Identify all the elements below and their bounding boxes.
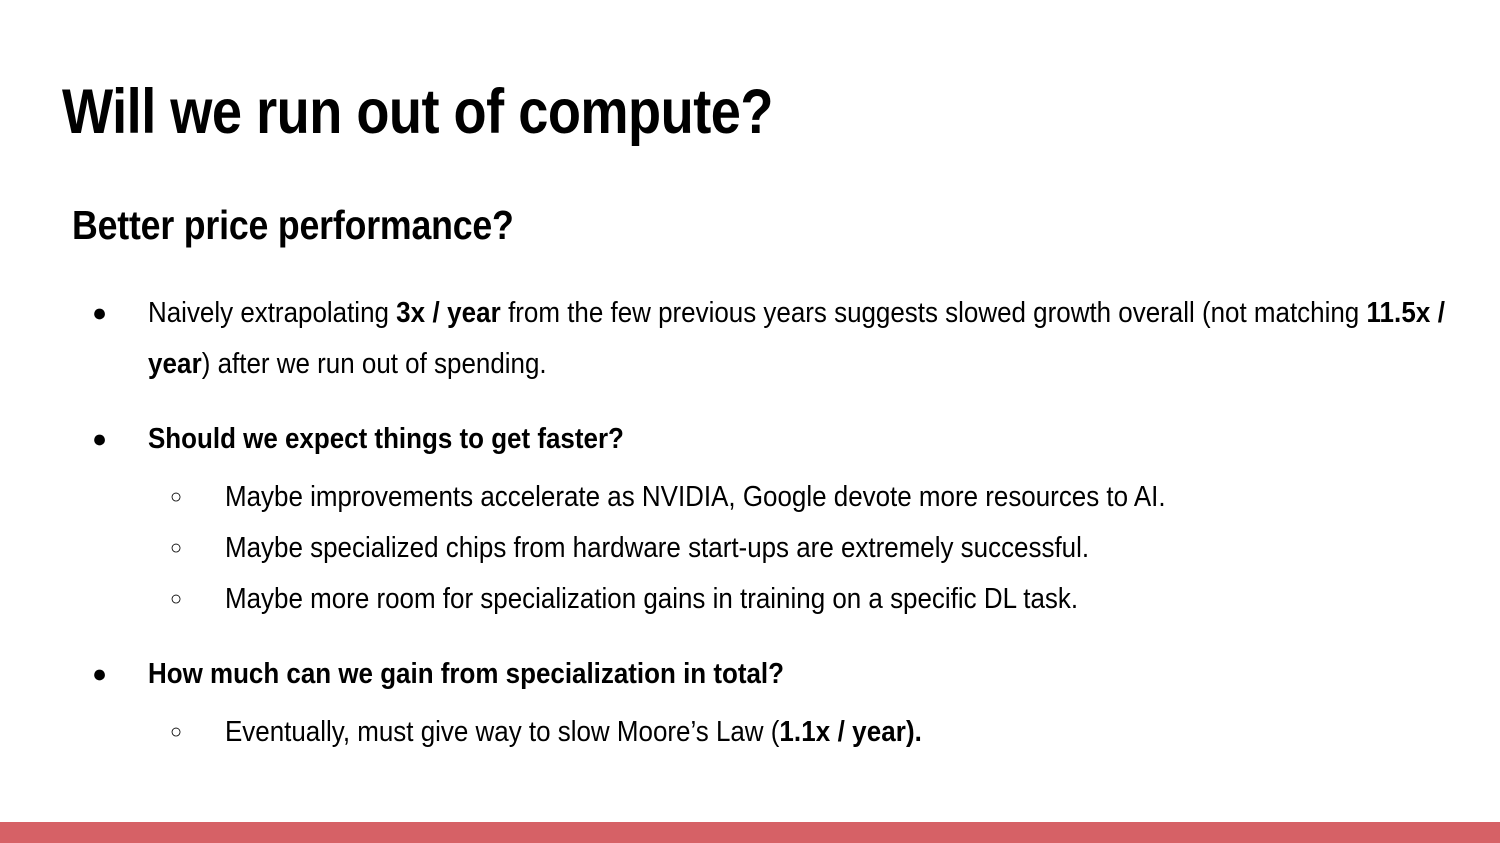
list-item-text: How much can we gain from specialization… bbox=[148, 649, 1500, 700]
plain-text: Naively extrapolating bbox=[148, 297, 396, 329]
list-item-text: Maybe improvements accelerate as NVIDIA,… bbox=[225, 472, 1500, 523]
list-item: ○Eventually, must give way to slow Moore… bbox=[0, 707, 1500, 758]
list-item-text: Eventually, must give way to slow Moore’… bbox=[225, 707, 1500, 758]
list-item-text: Should we expect things to get faster? bbox=[148, 414, 1500, 465]
emphasis-text: 1.1x / year). bbox=[779, 716, 922, 748]
bottom-accent-bar bbox=[0, 822, 1500, 843]
slide-canvas: Will we run out of compute? Better price… bbox=[0, 0, 1500, 843]
section-heading: Better price performance? bbox=[72, 200, 514, 250]
plain-text: Maybe specialized chips from hardware st… bbox=[225, 532, 1089, 564]
list-item: ○Maybe improvements accelerate as NVIDIA… bbox=[0, 472, 1500, 523]
plain-text: Maybe improvements accelerate as NVIDIA,… bbox=[225, 481, 1166, 513]
list-item-text: Maybe more room for specialization gains… bbox=[225, 574, 1500, 625]
bullet-marker-hollow-icon: ○ bbox=[170, 523, 182, 574]
bullet-marker-filled-icon: ● bbox=[92, 414, 108, 465]
list-item-text: Maybe specialized chips from hardware st… bbox=[225, 523, 1500, 574]
emphasis-text: How much can we gain from specialization… bbox=[148, 658, 784, 690]
plain-text: ) after we run out of spending. bbox=[202, 348, 547, 380]
plain-text: from the few previous years suggests slo… bbox=[501, 297, 1367, 329]
list-item: ●Should we expect things to get faster? bbox=[0, 414, 1500, 465]
plain-text: Maybe more room for specialization gains… bbox=[225, 583, 1078, 615]
page-title: Will we run out of compute? bbox=[62, 76, 773, 148]
emphasis-text: Should we expect things to get faster? bbox=[148, 423, 624, 455]
bullet-marker-hollow-icon: ○ bbox=[170, 472, 182, 523]
bullet-marker-hollow-icon: ○ bbox=[170, 707, 182, 758]
emphasis-text: 3x / year bbox=[396, 297, 501, 329]
bullet-marker-filled-icon: ● bbox=[92, 649, 108, 700]
bullet-list: ●Naively extrapolating 3x / year from th… bbox=[0, 288, 1500, 758]
bullet-marker-filled-icon: ● bbox=[92, 288, 108, 339]
list-item: ○Maybe specialized chips from hardware s… bbox=[0, 523, 1500, 574]
plain-text: Eventually, must give way to slow Moore’… bbox=[225, 716, 779, 748]
list-item: ●Naively extrapolating 3x / year from th… bbox=[0, 288, 1500, 390]
list-item: ●How much can we gain from specializatio… bbox=[0, 649, 1500, 700]
bullet-marker-hollow-icon: ○ bbox=[170, 574, 182, 625]
list-item: ○Maybe more room for specialization gain… bbox=[0, 574, 1500, 625]
list-item-text: Naively extrapolating 3x / year from the… bbox=[148, 288, 1500, 390]
